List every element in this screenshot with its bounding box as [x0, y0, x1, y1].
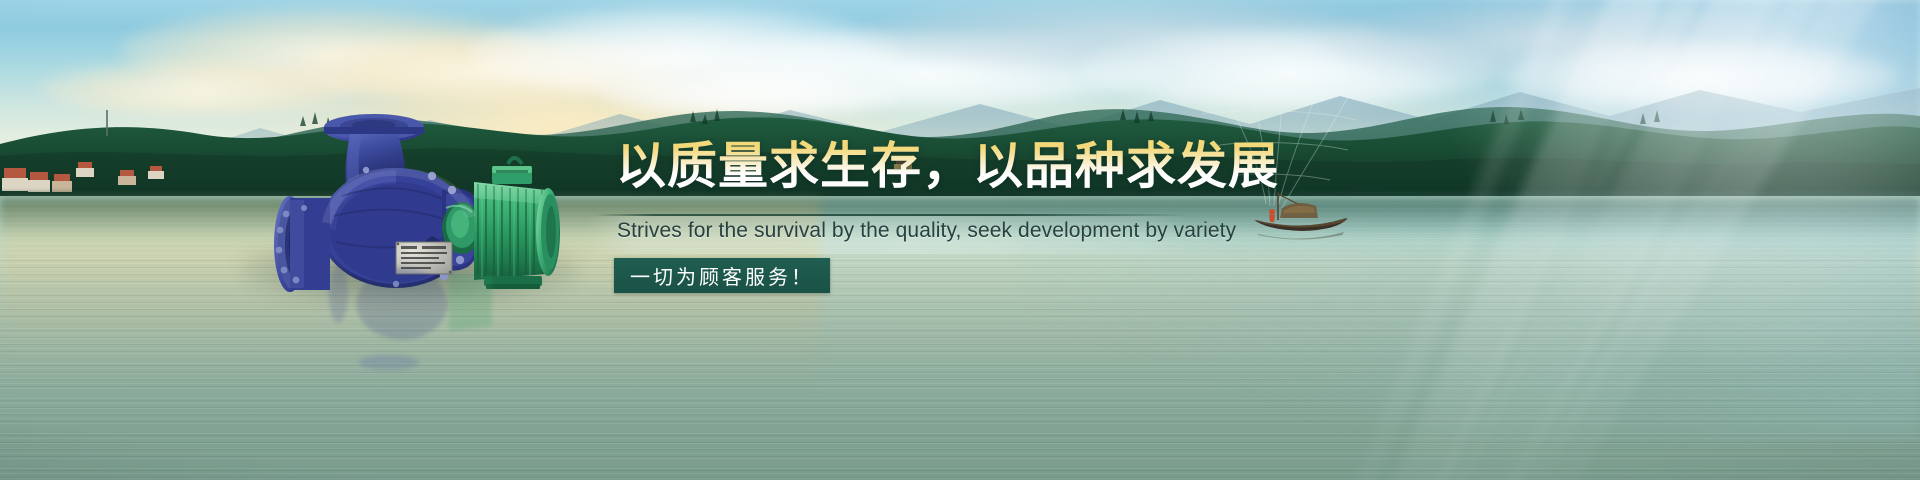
promo-banner: 以质量求生存，以品种求发展 Strives for the survival b…	[0, 0, 1920, 480]
vignette-overlay	[0, 0, 1920, 480]
